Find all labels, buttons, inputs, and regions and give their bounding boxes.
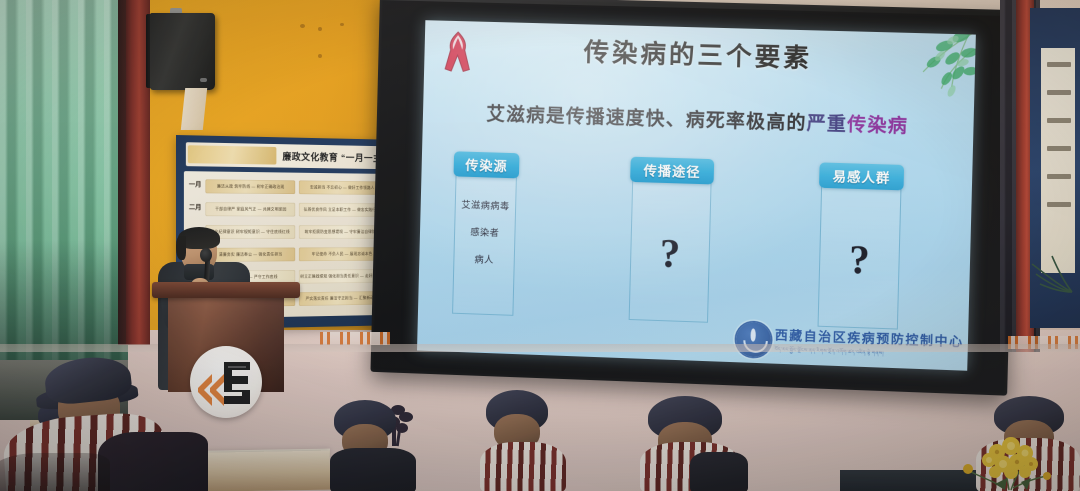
audience-shoulder [330,448,416,491]
column-item: 病人 [454,251,514,267]
presentation-photo-scene: 廉政文化教育 “一月一主题” 一月 廉洁从政 筑牢防线 — 树牢正确政治观 忠诚… [0,0,1080,491]
presenter-hair-side [176,236,186,260]
column-header-box: 传播途径 [630,157,714,185]
column-question-mark: ? [631,232,709,275]
wall-mark [318,54,322,58]
poster-topic-right: 牢记使命 不负人民 — 展现忠诚本色 [299,247,385,261]
wall-mark [318,27,322,31]
poster-topic-right-text: 弘扬优良作风 立足本职工作 — 做忠实践行者 [304,207,380,213]
column-header-box: 易感人群 [819,162,904,190]
poster-row: 二月 干部自律严 家庭风气正 — 共建文明家园 弘扬优良作风 立足本职工作 — … [187,198,402,220]
cdc-emblem-icon [735,322,771,358]
column-content-box: ? [818,185,902,330]
wall-mark [300,24,305,28]
slide-subtitle-part1: 艾滋病是传播速度快、病死率极高的 [486,105,807,135]
poster-text-line [1047,118,1071,123]
audience-shadow [0,453,110,491]
poster-topic-right: 弘扬优良作风 立足本职工作 — 做忠实践行者 [299,203,385,217]
poster-topic-right-text: 筑牢拒腐防变思想堤坝 — 守牢廉洁自律防线 [305,229,380,235]
wall-mark [340,23,344,26]
presentation-slide: 传染病的三个要素 艾滋病是传播速度快、病死率极高的严重传染病 传染源 艾滋病病毒… [417,20,976,371]
poster-text-line [1047,146,1071,151]
poster-topic-left: 干部自律严 家庭风气正 — 共建文明家园 [205,202,295,216]
audience-shoulder [98,432,208,491]
poster-topic-right-text: 严实落实责任 廉洁守正担当 — 汇聚新动能 [306,296,378,303]
poster-text-line [1047,174,1071,179]
poster-topic-left-text: 干部自律严 家庭风气正 — 共建文明家园 [215,206,286,212]
poster-topic-right: 筑牢拒腐防变思想堤坝 — 守牢廉洁自律防线 [299,225,385,239]
slide-subtitle-part3: 传染病 [847,116,908,138]
poster-title-bar: 廉政文化教育 “一月一主题” [186,142,403,169]
podium-top-surface [152,282,300,298]
wall-patch [181,88,207,130]
poster-month-left: 一月 [187,182,204,189]
speaker-logo-plate [200,78,207,82]
audience-striped-garment [480,442,566,491]
list-item [480,390,575,491]
poster-month-left: 二月 [187,206,204,212]
potted-plant-icon [1028,240,1076,300]
poster-topic-right-text: 树立正确政绩观 强化担当责任意识 — 走好廉洁路 [300,273,384,279]
poster-text-line [1047,62,1071,67]
poster-topic-right: 忠诚担当 不忘初心 — 做好工作领路人 [299,180,385,194]
poster-text-line [1047,202,1071,207]
audience-shoulder [690,452,748,491]
column-item: 感染者 [455,224,515,240]
poster-topic-right-text: 忠诚担当 不忘初心 — 做好工作领路人 [310,184,375,190]
poster-text-line [1047,90,1071,95]
yellow-flowers-icon [955,428,1065,491]
column-item: 艾滋病病毒 [456,196,516,212]
poster-row: 一月 廉洁从政 筑牢防线 — 树牢正确政治观 忠诚担当 不忘初心 — 做好工作领… [187,175,402,198]
list-item [0,358,220,491]
column-header-label: 传染源 [465,155,508,175]
column-header-box: 传染源 [454,151,520,178]
microphone-head-icon [200,248,212,262]
column-content-box: 艾滋病病毒 感染者 病人 [452,173,517,315]
slide-three-columns: 传染源 艾滋病病毒 感染者 病人 传播途径 ? [438,151,952,340]
slide-subtitle-part2: 严重 [806,114,847,135]
column-question-mark: ? [820,239,899,282]
column-header-label: 易感人群 [832,166,890,187]
poster-title-ornament [188,145,277,164]
poster-topic-left-text: 廉洁从政 筑牢防线 — 树牢正确政治观 [217,183,284,189]
list-item [640,396,750,491]
slide-column-source: 传染源 艾滋病病毒 感染者 病人 [454,151,520,178]
column-header-label: 传播途径 [643,160,700,181]
poster-topic-right-text: 牢记使命 不负人民 — 展现忠诚本色 [312,251,373,257]
list-item [330,398,418,491]
slide-column-transmission: 传播途径 ? [630,157,714,185]
slide-column-susceptible: 易感人群 ? [819,162,904,190]
poster-topic-left: 廉洁从政 筑牢防线 — 树牢正确政治观 [205,179,295,194]
column-content-box: ? [629,179,712,323]
